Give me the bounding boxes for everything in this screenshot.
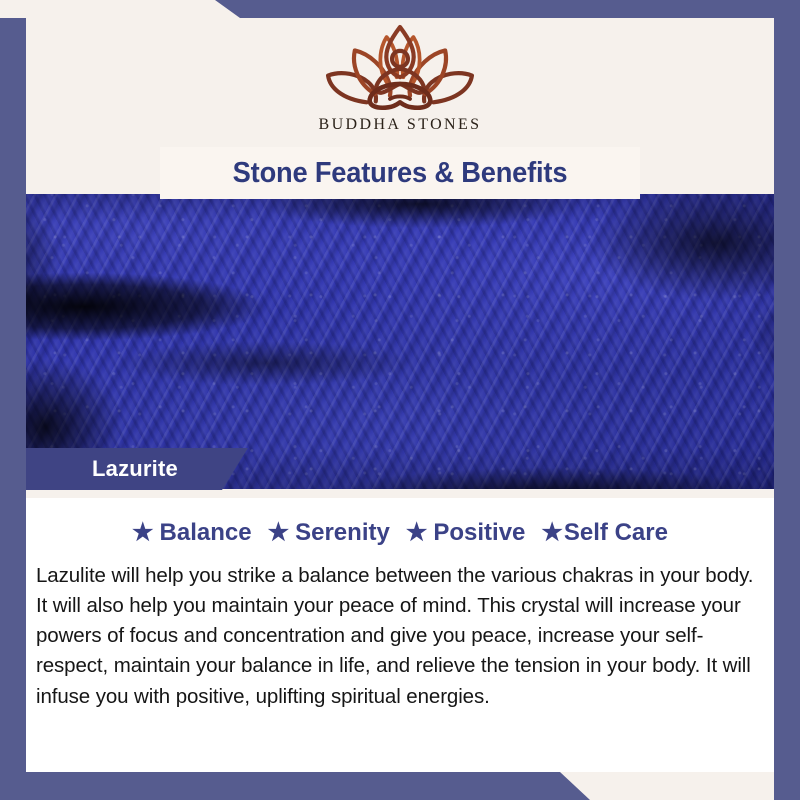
headline-banner: Stone Features & Benefits	[160, 147, 640, 199]
keyword-label: Balance	[160, 519, 252, 547]
brand-header: BUDDHA STONES	[0, 18, 800, 148]
keyword-label: Serenity	[295, 519, 390, 547]
star-icon: ★	[268, 521, 290, 545]
stone-name-tag: Lazurite	[26, 448, 248, 490]
page-title: Stone Features & Benefits	[233, 157, 568, 190]
keyword-label: Positive	[433, 519, 525, 547]
frame-corner-mask-top-left	[0, 0, 26, 18]
keyword-item-balance: ★ Balance	[132, 519, 252, 547]
keyword-item-positive: ★ Positive	[406, 519, 526, 547]
keyword-label: Self Care	[564, 519, 668, 547]
frame-band-left	[0, 0, 26, 800]
frame-band-right	[774, 0, 800, 800]
star-icon: ★	[132, 521, 154, 545]
lotus-meditation-figure-icon	[315, 22, 485, 114]
content-card: ★ Balance ★ Serenity ★ Positive ★ Self C…	[26, 489, 774, 772]
keyword-item-serenity: ★ Serenity	[268, 519, 390, 547]
star-icon: ★	[541, 521, 563, 545]
stone-texture-vignette	[0, 194, 800, 489]
brand-name: BUDDHA STONES	[319, 116, 482, 134]
frame-band-top	[0, 0, 800, 18]
stone-name-label: Lazurite	[92, 456, 178, 482]
star-icon: ★	[406, 521, 428, 545]
card-top-strip	[26, 489, 774, 498]
keyword-item-self-care: ★ Self Care	[541, 519, 668, 547]
keyword-list: ★ Balance ★ Serenity ★ Positive ★ Self C…	[26, 519, 774, 547]
frame-band-bottom	[0, 772, 800, 800]
poster-root: BUDDHA STONES Stone Features & Benefits …	[0, 0, 800, 800]
lazurite-stone-photo	[0, 194, 800, 489]
stone-description: Lazulite will help you strike a balance …	[36, 561, 756, 712]
